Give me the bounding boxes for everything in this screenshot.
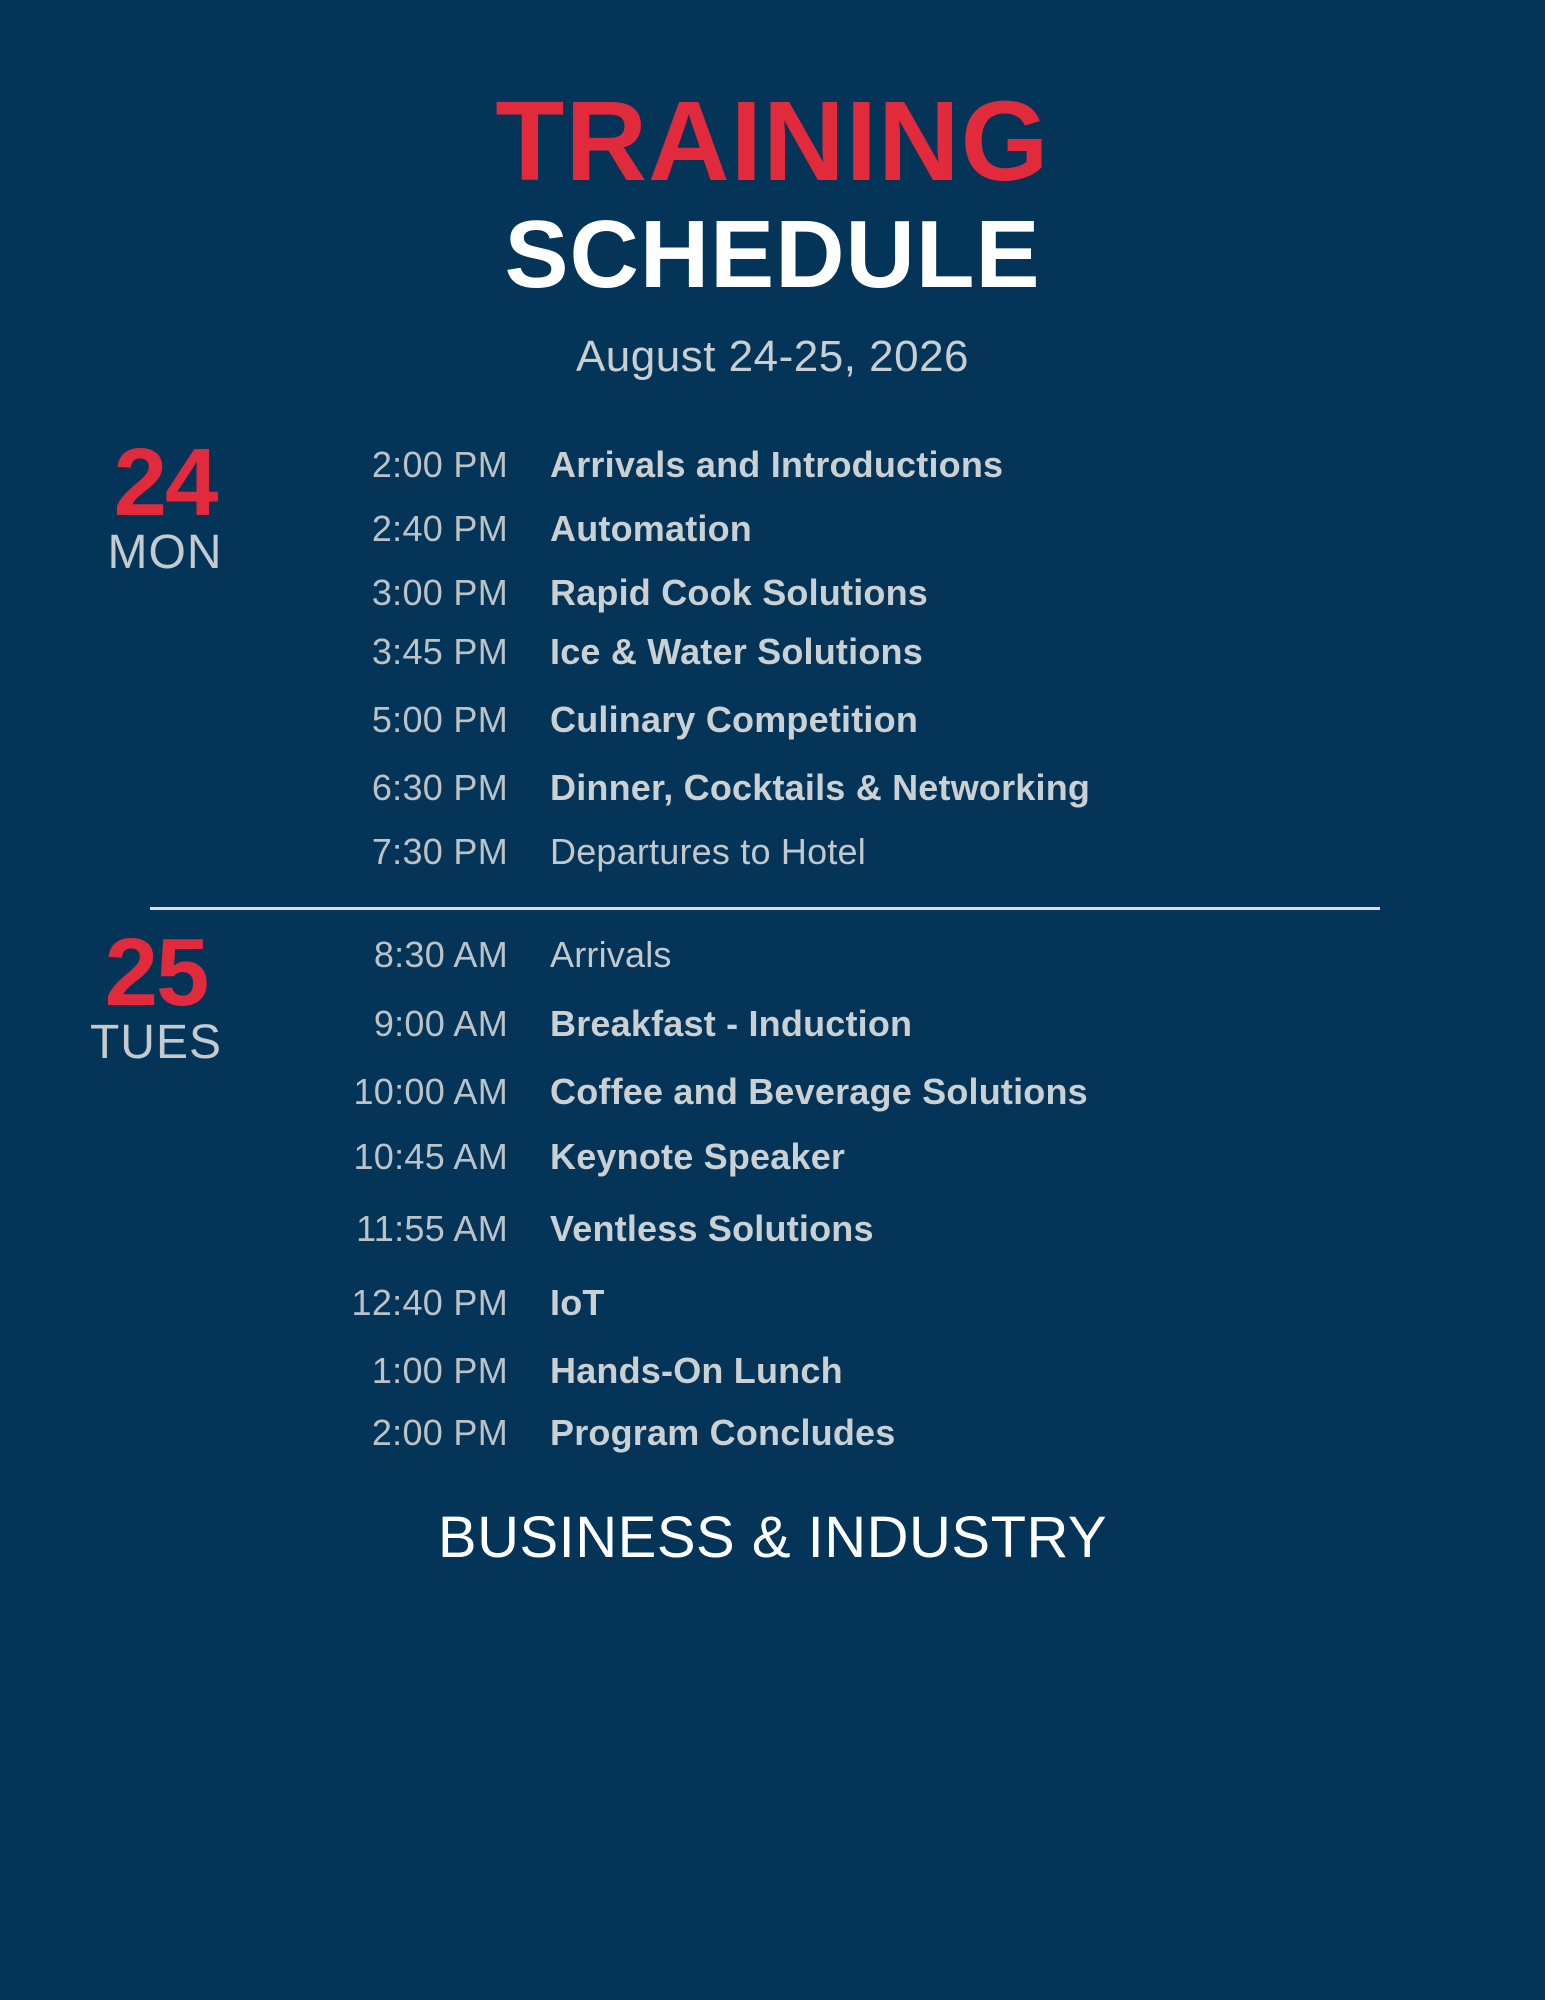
agenda-time: 11:55 AM xyxy=(300,1208,508,1250)
agenda-event: Hands-On Lunch xyxy=(508,1350,843,1392)
agenda-time: 5:00 PM xyxy=(300,699,508,741)
agenda-time: 2:40 PM xyxy=(300,508,508,550)
poster-header: TRAINING SCHEDULE August 24-25, 2026 xyxy=(0,0,1545,382)
agenda-event: Arrivals and Introductions xyxy=(508,444,1003,486)
agenda-row: 12:40 PMIoT xyxy=(300,1282,1545,1324)
agenda-event: Arrivals xyxy=(508,934,672,976)
agenda-event: Ventless Solutions xyxy=(508,1208,874,1250)
agenda-row: 5:00 PMCulinary Competition xyxy=(300,699,1545,741)
agenda-event: Dinner, Cocktails & Networking xyxy=(508,767,1090,809)
agenda-event: Ice & Water Solutions xyxy=(508,631,923,673)
agenda-event: Coffee and Beverage Solutions xyxy=(508,1071,1088,1113)
agenda-time: 1:00 PM xyxy=(300,1350,508,1392)
agenda-event: Keynote Speaker xyxy=(508,1136,845,1178)
agenda-time: 2:00 PM xyxy=(300,444,508,486)
day-section-25: 25 TUES 8:30 AMArrivals9:00 AMBreakfast … xyxy=(0,910,1545,1454)
title-training: TRAINING xyxy=(0,86,1545,197)
agenda-row: 2:40 PMAutomation xyxy=(300,508,1545,550)
agenda-time: 10:00 AM xyxy=(300,1071,508,1113)
day-number-25: 25 xyxy=(12,934,300,1013)
day-badge-25: 25 TUES xyxy=(0,934,300,1069)
agenda-time: 8:30 AM xyxy=(300,934,508,976)
agenda-time: 3:45 PM xyxy=(300,631,508,673)
agenda-list-24: 2:00 PMArrivals and Introductions2:40 PM… xyxy=(300,444,1545,873)
agenda-time: 6:30 PM xyxy=(300,767,508,809)
day-weekday-24: MON xyxy=(30,522,300,578)
agenda-row: 10:00 AMCoffee and Beverage Solutions xyxy=(300,1071,1545,1113)
title-schedule: SCHEDULE xyxy=(0,197,1545,306)
agenda-row: 2:00 PMArrivals and Introductions xyxy=(300,444,1545,486)
agenda-event: Breakfast - Induction xyxy=(508,1003,912,1045)
agenda-event: Culinary Competition xyxy=(508,699,918,741)
agenda-time: 7:30 PM xyxy=(300,831,508,873)
agenda-row: 7:30 PMDepartures to Hotel xyxy=(300,831,1545,873)
footer-brand-text: BUSINESS & INDUSTRY xyxy=(0,1504,1545,1571)
agenda-event: Automation xyxy=(508,508,752,550)
agenda-row: 2:00 PMProgram Concludes xyxy=(300,1412,1545,1454)
agenda-time: 9:00 AM xyxy=(300,1003,508,1045)
agenda-row: 9:00 AMBreakfast - Induction xyxy=(300,1003,1545,1045)
day-section-24: 24 MON 2:00 PMArrivals and Introductions… xyxy=(0,382,1545,873)
day-badge-24: 24 MON xyxy=(0,444,300,579)
agenda-time: 2:00 PM xyxy=(300,1412,508,1454)
agenda-event: Departures to Hotel xyxy=(508,831,866,873)
agenda-time: 3:00 PM xyxy=(300,572,508,614)
agenda-event: IoT xyxy=(508,1282,605,1324)
agenda-row: 11:55 AMVentless Solutions xyxy=(300,1208,1545,1250)
day-number-24: 24 xyxy=(30,444,300,523)
agenda-row: 3:00 PMRapid Cook Solutions xyxy=(300,572,1545,614)
agenda-time: 12:40 PM xyxy=(300,1282,508,1324)
agenda-row: 1:00 PMHands-On Lunch xyxy=(300,1350,1545,1392)
agenda-event: Program Concludes xyxy=(508,1412,895,1454)
event-date-range: August 24-25, 2026 xyxy=(0,306,1545,382)
agenda-row: 8:30 AMArrivals xyxy=(300,934,1545,976)
agenda-row: 3:45 PMIce & Water Solutions xyxy=(300,631,1545,673)
agenda-time: 10:45 AM xyxy=(300,1136,508,1178)
agenda-event: Rapid Cook Solutions xyxy=(508,572,928,614)
agenda-list-25: 8:30 AMArrivals9:00 AMBreakfast - Induct… xyxy=(300,934,1545,1454)
day-weekday-25: TUES xyxy=(12,1012,300,1068)
training-schedule-poster: TRAINING SCHEDULE August 24-25, 2026 24 … xyxy=(0,0,1545,2000)
agenda-row: 6:30 PMDinner, Cocktails & Networking xyxy=(300,767,1545,809)
poster-footer: BUSINESS & INDUSTRY xyxy=(0,1454,1545,1571)
agenda-row: 10:45 AMKeynote Speaker xyxy=(300,1136,1545,1178)
